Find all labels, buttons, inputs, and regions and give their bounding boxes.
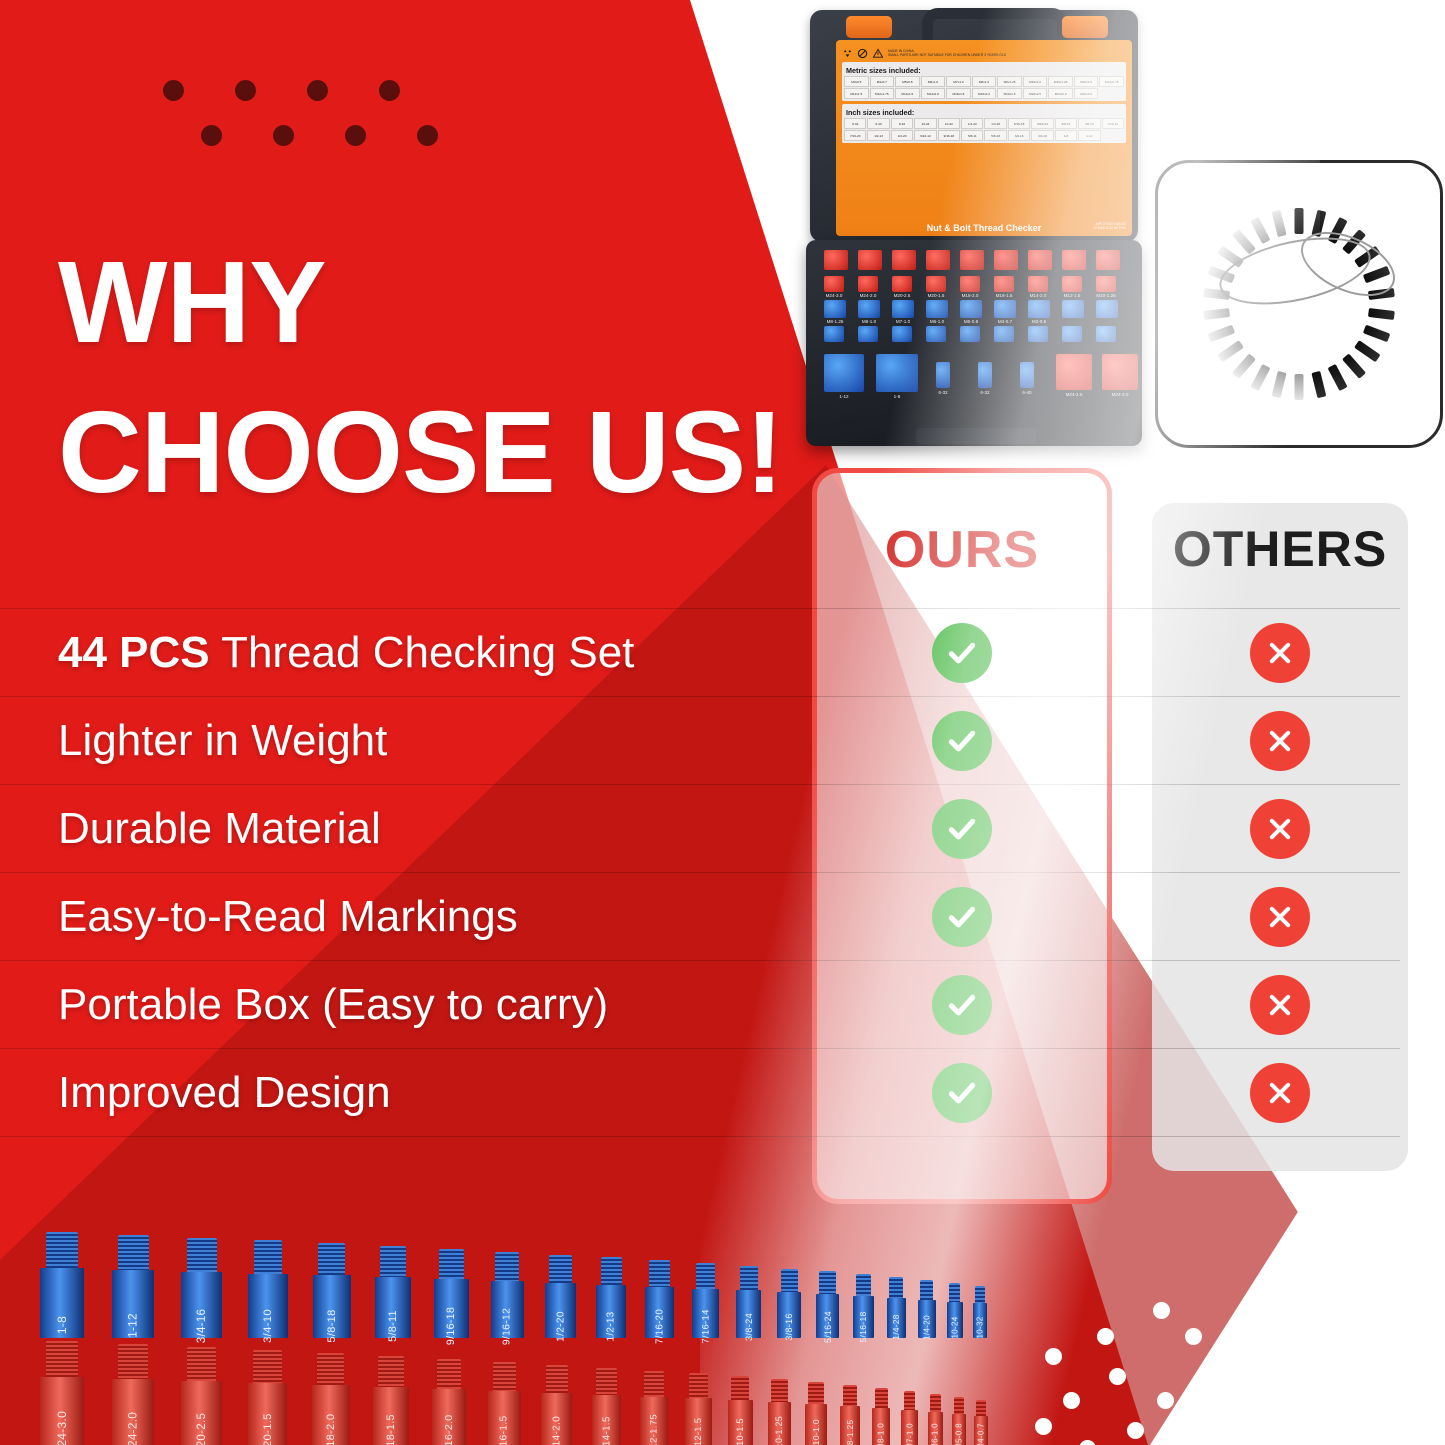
gauge-thread [493, 1362, 517, 1393]
tray-gauge [1096, 250, 1120, 270]
ring-gauge [1368, 308, 1395, 320]
product-gauge: 5/16-24 [816, 1271, 838, 1338]
no-entry-icon [857, 48, 868, 59]
decorative-dot [1109, 1368, 1126, 1385]
gauge-thread [378, 1356, 404, 1389]
case-clip-right [1062, 16, 1108, 38]
tray-gauge-label: M24-3.0 [826, 293, 843, 298]
size-cell: 5/16-18 [1008, 118, 1030, 129]
gauge-thread [46, 1341, 78, 1379]
decorative-dot [417, 125, 438, 146]
size-cell: M24x2.0 [1048, 88, 1073, 99]
gauge-thread [118, 1235, 149, 1272]
size-cell: M10x1.0 [1023, 76, 1048, 87]
product-gauge: 3/8-16 [777, 1269, 801, 1338]
gauge-label: M10-1.5 [735, 1418, 745, 1445]
ours-header: OURS [812, 520, 1112, 580]
decorative-dot [1045, 1348, 1062, 1365]
tray-gauge [892, 250, 916, 270]
product-gauge: 1/2-13 [596, 1257, 626, 1338]
gauge-label: M12-1.75 [648, 1414, 659, 1445]
red-gauge-row: M24-3.0M24-2.0M20-2.5M20-1.5M18-2.0M18-1… [40, 1352, 1000, 1445]
decorative-dot [273, 125, 294, 146]
check-icon [932, 975, 992, 1035]
tray-gauge-label: 1-8 [894, 394, 901, 399]
decorative-dot [307, 80, 328, 101]
tray-gauge: 1-8 [876, 354, 918, 392]
product-gauge: 3/4-16 [181, 1238, 222, 1338]
tray-gauge-label: M18-2.0 [962, 293, 979, 298]
gauge-label: 3/4-10 [262, 1309, 274, 1343]
gauge-thread [317, 1353, 344, 1387]
size-cell: 1/4-20 [961, 118, 983, 129]
decorative-dot [1157, 1392, 1174, 1409]
tray-gauge-label: 6-32 [938, 390, 947, 395]
tray-gauge-label: M8-1.25 [827, 319, 844, 324]
gauge-thread [843, 1385, 857, 1407]
decorative-dot [1217, 1410, 1234, 1427]
tray-gauge: M4-0.7 [994, 300, 1016, 318]
size-cell: 7/16-20 [844, 130, 866, 141]
size-cell: 3/4-10 [1031, 130, 1053, 141]
product-gauge: 1/4-28 [887, 1277, 906, 1338]
decorative-dots-top-left [163, 80, 433, 150]
case-lid: MADE IN CHINA. SMALL PARTS ARE NOT SUITA… [810, 10, 1138, 242]
product-gauge: M12-1.75 [640, 1371, 668, 1445]
tray-gauge [1062, 250, 1086, 270]
tray-gauge-label: M14-2.0 [1030, 293, 1047, 298]
ring-gauge [1354, 340, 1381, 362]
gauge-label: 3/4-16 [196, 1309, 208, 1344]
product-gauge: M14-2.0 [541, 1365, 572, 1445]
tray-gauge: M10-1.25 [1096, 276, 1116, 292]
tray-gauge: M20-1.5 [926, 276, 946, 292]
tray-gauge: M7-1.0 [892, 300, 914, 318]
tray-gauge: M14-2.0 [1028, 276, 1048, 292]
comparison-row: Lighter in Weight [0, 696, 1400, 784]
feature-label: Improved Design [58, 1068, 391, 1118]
tray-gauge: M20-2.5 [892, 276, 912, 292]
size-cell: M8x1.25 [997, 76, 1022, 87]
gauge-thread [644, 1371, 664, 1399]
tray-gauge: 6-32 [936, 362, 950, 388]
feature-label: Portable Box (Easy to carry) [58, 980, 608, 1030]
ring-gauge [1295, 208, 1304, 234]
size-cell: 5/16-24 [1031, 118, 1053, 129]
gauge-label: M18-2.0 [325, 1414, 337, 1445]
size-cell: 5/8-11 [961, 130, 983, 141]
feature-label: Durable Material [58, 804, 381, 854]
tray-gauge-label: M3-0.5 [1032, 319, 1046, 324]
product-gauge: 5/8-18 [313, 1243, 351, 1338]
size-cell: M16x1.5 [946, 88, 971, 99]
warning-row: MADE IN CHINA. SMALL PARTS ARE NOT SUITA… [842, 44, 1126, 62]
warning-triangle-icon [872, 48, 884, 59]
product-gauge: M6-1.0 [928, 1394, 943, 1445]
tray-gauge-label: M7-1.0 [896, 319, 910, 324]
comparison-row: 44 PCS Thread Checking Set [0, 608, 1400, 696]
tray-gauge [858, 326, 878, 342]
gauge-label: M4-0.7 [977, 1423, 986, 1445]
gauge-label: M14-2.0 [551, 1416, 562, 1445]
size-cell: 1-8 [1055, 130, 1077, 141]
product-gauge: M24-3.0 [40, 1341, 84, 1445]
size-cell: 10-24 [914, 118, 936, 129]
cross-icon [1250, 887, 1310, 947]
gauge-thread [439, 1249, 464, 1281]
gauge-thread [495, 1252, 519, 1283]
gauge-label: M20-2.5 [196, 1413, 208, 1445]
ring-gauge [1203, 308, 1230, 320]
ring-gauge [1250, 364, 1270, 391]
decorative-dot [1185, 1328, 1202, 1345]
gauge-thread [731, 1376, 749, 1401]
size-cell: 3/8-24 [1078, 118, 1100, 129]
product-gauge: M16-1.5 [488, 1362, 521, 1445]
tray-gauge-label: M24-3.0 [1112, 392, 1129, 397]
gauge-thread [187, 1347, 216, 1383]
gauge-thread [549, 1255, 572, 1285]
ring-gauge [1295, 374, 1304, 400]
tray-gauge: M3-0.5 [1028, 300, 1050, 318]
metric-size-grid: M3x0.5M4x0.7M5x0.8M6x1.0M7x1.0M8x1.0M8x1… [844, 76, 1124, 99]
decorative-dot [201, 125, 222, 146]
size-cell: 6-40 [867, 118, 889, 129]
comparison-row: Durable Material [0, 784, 1400, 872]
tray-gauge-label: M8-1.0 [862, 319, 876, 324]
decorative-dot [1127, 1422, 1144, 1439]
size-cell: 6-32 [844, 118, 866, 129]
size-cell: M10x1.5 [1074, 76, 1099, 87]
gauge-thread [920, 1280, 933, 1301]
gauge-thread [949, 1283, 961, 1303]
ring-gauge [1250, 217, 1270, 244]
product-gauge: 5/16-18 [853, 1274, 874, 1338]
tray-gauge-label: M20-2.5 [894, 293, 911, 298]
gauge-label: M5-0.8 [955, 1423, 964, 1445]
gauge-thread [696, 1263, 715, 1290]
gauge-thread [819, 1271, 835, 1295]
tray-gauge-label: M12-1.5 [1064, 293, 1081, 298]
metric-panel: Metric sizes included: M3x0.5M4x0.7M5x0.… [842, 62, 1126, 101]
tray-gauge: M18-2.0 [960, 276, 980, 292]
gauge-label: M16-2.0 [443, 1415, 455, 1445]
product-gauge: M20-2.5 [181, 1347, 222, 1445]
check-icon [932, 1063, 992, 1123]
size-cell: M4x0.7 [870, 76, 895, 87]
gauge-thread [889, 1277, 903, 1299]
decorative-dot [1097, 1328, 1114, 1345]
size-cell: 9/16-18 [938, 130, 960, 141]
product-gauge: M18-1.5 [373, 1356, 409, 1445]
case-base-handle [916, 428, 1036, 444]
gauge-label: 3/8-24 [744, 1313, 754, 1341]
competitor-product-inset [1155, 160, 1443, 448]
gauge-label: M24-2.0 [127, 1412, 140, 1445]
ring-gauge [1232, 229, 1256, 254]
tray-gauge-label: 1-12 [839, 394, 848, 399]
feature-label: Lighter in Weight [58, 716, 387, 766]
size-cell: M14x1.5 [895, 88, 920, 99]
tray-gauge: 6-40 [1020, 362, 1034, 388]
comparison-row: Easy-to-Read Markings [0, 872, 1400, 960]
inch-title: Inch sizes included: [846, 108, 1124, 117]
cross-icon [1250, 711, 1310, 771]
gauge-label: M6-1.0 [931, 1423, 940, 1445]
tray-gauge [858, 250, 882, 270]
size-cell: M7x1.0 [946, 76, 971, 87]
product-gauge: 7/16-20 [645, 1260, 674, 1338]
tray-gauge [1096, 326, 1116, 342]
gauge-thread [437, 1359, 462, 1391]
metric-title: Metric sizes included: [846, 66, 1124, 75]
gauge-label: 1-12 [127, 1313, 140, 1338]
ring-gauge [1311, 371, 1326, 398]
gauge-thread [856, 1274, 871, 1297]
gauge-label: 10-24 [950, 1317, 959, 1339]
gauge-thread [254, 1240, 282, 1275]
gauge-thread [253, 1350, 281, 1385]
gauge-thread [546, 1365, 568, 1395]
gauge-label: 5/8-18 [326, 1309, 338, 1342]
gauge-thread [380, 1246, 406, 1279]
tray-gauge: M16-1.5 [994, 276, 1014, 292]
product-gauge: M8-1.25 [840, 1385, 860, 1445]
decorative-dot [345, 125, 366, 146]
decorative-dot [235, 80, 256, 101]
size-cell: M12x1.75 [1099, 76, 1124, 87]
tray-gauge-label: 6-32 [980, 390, 989, 395]
product-gauge: M7-1.0 [901, 1391, 917, 1445]
tray-gauge [1062, 326, 1082, 342]
tray-gauge: M6-1.0 [926, 300, 948, 318]
gauge-label: 1/4-28 [891, 1314, 901, 1340]
gauge-thread [596, 1368, 617, 1397]
gauge-thread [976, 1400, 986, 1417]
case-clip-left [846, 16, 892, 38]
product-gauge: M16-2.0 [432, 1359, 466, 1445]
product-gauge: M18-2.0 [312, 1353, 350, 1445]
gauge-label: M8-1.0 [877, 1423, 886, 1445]
tray-gauge-label: 6-40 [1022, 390, 1031, 395]
inch-panel: Inch sizes included: 6-326-408-3210-2410… [842, 104, 1126, 143]
ring-gauge [1363, 325, 1391, 343]
size-cell: M10x1.25 [1048, 76, 1073, 87]
comparison-row: Portable Box (Easy to carry) [0, 960, 1400, 1048]
gauge-thread [118, 1344, 149, 1381]
gauge-thread [740, 1266, 758, 1292]
gauge-thread [318, 1243, 345, 1277]
size-cell: M16x2.0 [972, 88, 997, 99]
feature-label: Easy-to-Read Markings [58, 892, 518, 942]
gauge-label: 1/2-20 [555, 1311, 566, 1342]
size-cell: M24x3.0 [1074, 88, 1099, 99]
gauge-label: 10-32 [976, 1317, 985, 1339]
infographic-canvas: WHY CHOOSE US! MADE IN CHINA. SMALL PART… [0, 0, 1445, 1445]
tray-gauge: M24-3.0 [1102, 354, 1138, 390]
tray-gauge-label: M24-2.0 [860, 293, 877, 298]
product-gauge: M24-2.0 [112, 1344, 154, 1445]
size-cell: 3/4-16 [1008, 130, 1030, 141]
product-gauge: 10-32 [973, 1286, 988, 1338]
gauge-label: 5/8-11 [387, 1310, 399, 1342]
tray-gauge-label: M20-1.5 [928, 293, 945, 298]
tray-gauge: M24-3.0 [824, 276, 844, 292]
product-gauge: 5/8-11 [375, 1246, 411, 1338]
product-gauge: 1/2-20 [545, 1255, 577, 1338]
case-brand-name: Nut & Bolt Thread Checker [836, 223, 1132, 233]
gauge-label: M10-1.0 [811, 1419, 821, 1445]
gauge-label: M14-1.5 [601, 1416, 612, 1445]
tray-gauge-label: M5-0.8 [964, 319, 978, 324]
gauge-thread [954, 1397, 964, 1415]
ring-gauge [1217, 340, 1244, 362]
decorative-dot [1153, 1302, 1170, 1319]
ring-gauge [1272, 210, 1287, 237]
decorative-dot [1035, 1418, 1052, 1435]
gauge-tray: M24-3.0M24-2.0M20-2.5M20-1.5M18-2.0M16-1… [820, 250, 1128, 410]
comparison-row: Improved Design [0, 1048, 1400, 1137]
product-gauge: M10-1.0 [805, 1382, 826, 1445]
tray-gauge-label: M6-1.0 [930, 319, 944, 324]
gauge-label: 1/2-13 [606, 1312, 617, 1342]
gauge-label: 9/16-18 [445, 1307, 457, 1345]
product-gauge: 3/4-10 [248, 1240, 287, 1338]
tray-gauge [1062, 300, 1084, 318]
gauge-thread [975, 1286, 986, 1305]
size-cell: M8x1.0 [972, 76, 997, 87]
product-gauge: 9/16-18 [434, 1249, 469, 1338]
product-tool-case: MADE IN CHINA. SMALL PARTS ARE NOT SUITA… [800, 2, 1148, 450]
gauge-label: M12-1.5 [693, 1418, 703, 1445]
gauge-thread [781, 1269, 798, 1294]
size-cell: M12x1.5 [844, 88, 869, 99]
tray-gauge [824, 250, 848, 270]
product-gauge: M12-1.5 [685, 1373, 711, 1445]
gauge-label: M16-1.5 [499, 1416, 510, 1445]
gauge-label: M10-1.25 [774, 1416, 784, 1445]
gauge-thread [771, 1379, 788, 1403]
ring-gauge [1208, 325, 1236, 343]
tray-gauge [960, 326, 980, 342]
tray-gauge [926, 250, 950, 270]
ring-gauge [1342, 353, 1366, 378]
product-gauge: M4-0.7 [974, 1400, 988, 1445]
size-cell: 8-32 [891, 118, 913, 129]
size-cell: 3/8-16 [1055, 118, 1077, 129]
product-gauge: 9/16-12 [491, 1252, 524, 1338]
tray-gauge [892, 326, 912, 342]
gauge-label: 5/16-24 [823, 1311, 833, 1343]
warning-text: MADE IN CHINA. SMALL PARTS ARE NOT SUITA… [888, 49, 1006, 58]
gauge-thread [46, 1232, 78, 1270]
size-cell: 1-12 [1078, 130, 1100, 141]
case-base: M24-3.0M24-2.0M20-2.5M20-1.5M18-2.0M16-1… [806, 240, 1142, 446]
product-gauge: 3/8-24 [736, 1266, 761, 1338]
product-gauge: 1-12 [112, 1235, 154, 1338]
headline-line-2: CHOOSE US! [58, 394, 818, 510]
gauge-thread [808, 1382, 823, 1405]
check-icon [932, 623, 992, 683]
gauge-thread [904, 1391, 916, 1411]
check-icon [932, 711, 992, 771]
blue-gauge-row: 1-81-123/4-163/4-105/8-185/8-119/16-189/… [40, 1228, 1000, 1338]
page-title: WHY CHOOSE US! [58, 244, 818, 510]
size-cell: 10-32 [938, 118, 960, 129]
gauge-label: 7/16-20 [654, 1309, 665, 1344]
tray-gauge: M8-1.25 [824, 300, 846, 318]
product-gauge: 1-8 [40, 1232, 84, 1338]
product-gauge: M5-0.8 [952, 1397, 966, 1445]
size-cell: M12x1.75 [870, 88, 895, 99]
size-cell: M3x0.5 [844, 76, 869, 87]
inch-size-grid: 6-326-408-3210-2410-321/4-201/4-285/16-1… [844, 118, 1124, 141]
tray-gauge [1028, 250, 1052, 270]
cross-icon [1250, 1063, 1310, 1123]
brand-sub-2: 22 INCH & 22 METRIC [1093, 227, 1126, 231]
tray-gauge: M24-2.0 [1056, 354, 1092, 390]
decorative-dots-bottom-right [1035, 1300, 1365, 1445]
check-icon [932, 799, 992, 859]
tray-gauge [1028, 326, 1048, 342]
decorative-dot [163, 80, 184, 101]
case-brand-subtext: 44PCS SIZE GAUGE 22 INCH & 22 METRIC [1093, 223, 1126, 231]
size-cell: M14x2.0 [921, 88, 946, 99]
decorative-dot [1205, 1372, 1222, 1389]
size-cell: 1/2-13 [867, 130, 889, 141]
size-cell: M20x1.5 [997, 88, 1022, 99]
product-gauge: 7/16-14 [692, 1263, 719, 1338]
tray-gauge [1096, 300, 1118, 318]
product-gauge: M20-1.5 [248, 1350, 287, 1445]
recycle-icon [842, 48, 853, 59]
gauge-label: 3/8-16 [784, 1313, 794, 1340]
warning-line-2: SMALL PARTS ARE NOT SUITABLE FOR CHILDRE… [888, 53, 1006, 57]
size-cell: 1/2-20 [891, 130, 913, 141]
case-label: MADE IN CHINA. SMALL PARTS ARE NOT SUITA… [836, 40, 1132, 236]
comparison-table: 44 PCS Thread Checking SetLighter in Wei… [0, 608, 1400, 1137]
tray-gauge: 6-32 [978, 362, 992, 388]
decorative-dot [379, 80, 400, 101]
tray-gauge [824, 326, 844, 342]
size-cell: 1/4-28 [984, 118, 1006, 129]
gauge-label: M8-1.25 [845, 1420, 855, 1445]
tray-gauge-label: M10-1.25 [1096, 293, 1115, 298]
gauge-label: 1-8 [55, 1316, 69, 1334]
tray-gauge: M24-2.0 [858, 276, 878, 292]
gauge-thread [601, 1257, 623, 1286]
others-header: OTHERS [1152, 520, 1408, 578]
gauge-label: M7-1.0 [905, 1423, 914, 1445]
gauge-label: 5/16-18 [858, 1311, 868, 1342]
tray-gauge: 1-12 [824, 354, 864, 392]
cross-icon [1250, 623, 1310, 683]
tray-gauge [994, 250, 1018, 270]
product-gauge: 1/4-20 [918, 1280, 936, 1338]
decorative-dot [1181, 1438, 1198, 1445]
size-cell: M6x1.0 [921, 76, 946, 87]
gauge-thread [930, 1394, 941, 1413]
size-cell: 7/16-14 [1102, 118, 1124, 129]
gauge-label: 7/16-14 [700, 1309, 711, 1343]
size-cell: 5/8-18 [984, 130, 1006, 141]
product-gauge: M14-1.5 [592, 1368, 621, 1445]
gauge-thread [649, 1260, 670, 1288]
size-cell: 9/16-12 [914, 130, 936, 141]
size-cell: M20x2.5 [1023, 88, 1048, 99]
tray-gauge-label: M16-1.5 [996, 293, 1013, 298]
size-cell: M5x0.8 [895, 76, 920, 87]
